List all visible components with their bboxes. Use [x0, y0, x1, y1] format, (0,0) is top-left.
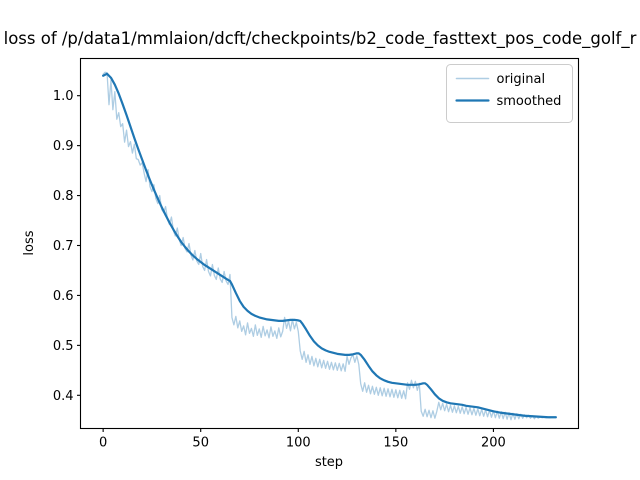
x-tick-label: 50	[192, 436, 209, 451]
legend-label-smoothed: smoothed	[497, 94, 562, 109]
y-axis-label: loss	[22, 230, 37, 255]
plot-canvas: 050100150200 0.40.50.60.70.80.91.0 step …	[0, 0, 640, 480]
y-axis-ticks: 0.40.50.60.70.80.91.0	[53, 89, 81, 404]
matplotlib-figure: loss of /p/data1/mmlaion/dcft/checkpoint…	[0, 0, 640, 480]
y-tick-label: 0.4	[53, 389, 74, 404]
legend-label-original: original	[497, 72, 546, 87]
x-axis-ticks: 050100150200	[99, 429, 506, 451]
y-tick-label: 0.7	[53, 239, 74, 254]
data-series-group	[103, 72, 556, 420]
axes-area: 050100150200 0.40.50.60.70.80.91.0 step …	[22, 59, 579, 471]
x-axis-label: step	[315, 455, 343, 470]
y-tick-label: 0.9	[53, 139, 74, 154]
y-tick-label: 0.8	[53, 189, 74, 204]
x-tick-label: 200	[481, 436, 506, 451]
series-line-smoothed	[103, 74, 556, 418]
x-tick-label: 100	[286, 436, 311, 451]
x-tick-label: 150	[383, 436, 408, 451]
y-tick-label: 0.6	[53, 289, 74, 304]
legend[interactable]: originalsmoothed	[447, 65, 573, 123]
series-line-original	[103, 72, 552, 420]
y-tick-label: 0.5	[53, 339, 74, 354]
y-tick-label: 1.0	[53, 89, 74, 104]
x-tick-label: 0	[99, 436, 107, 451]
